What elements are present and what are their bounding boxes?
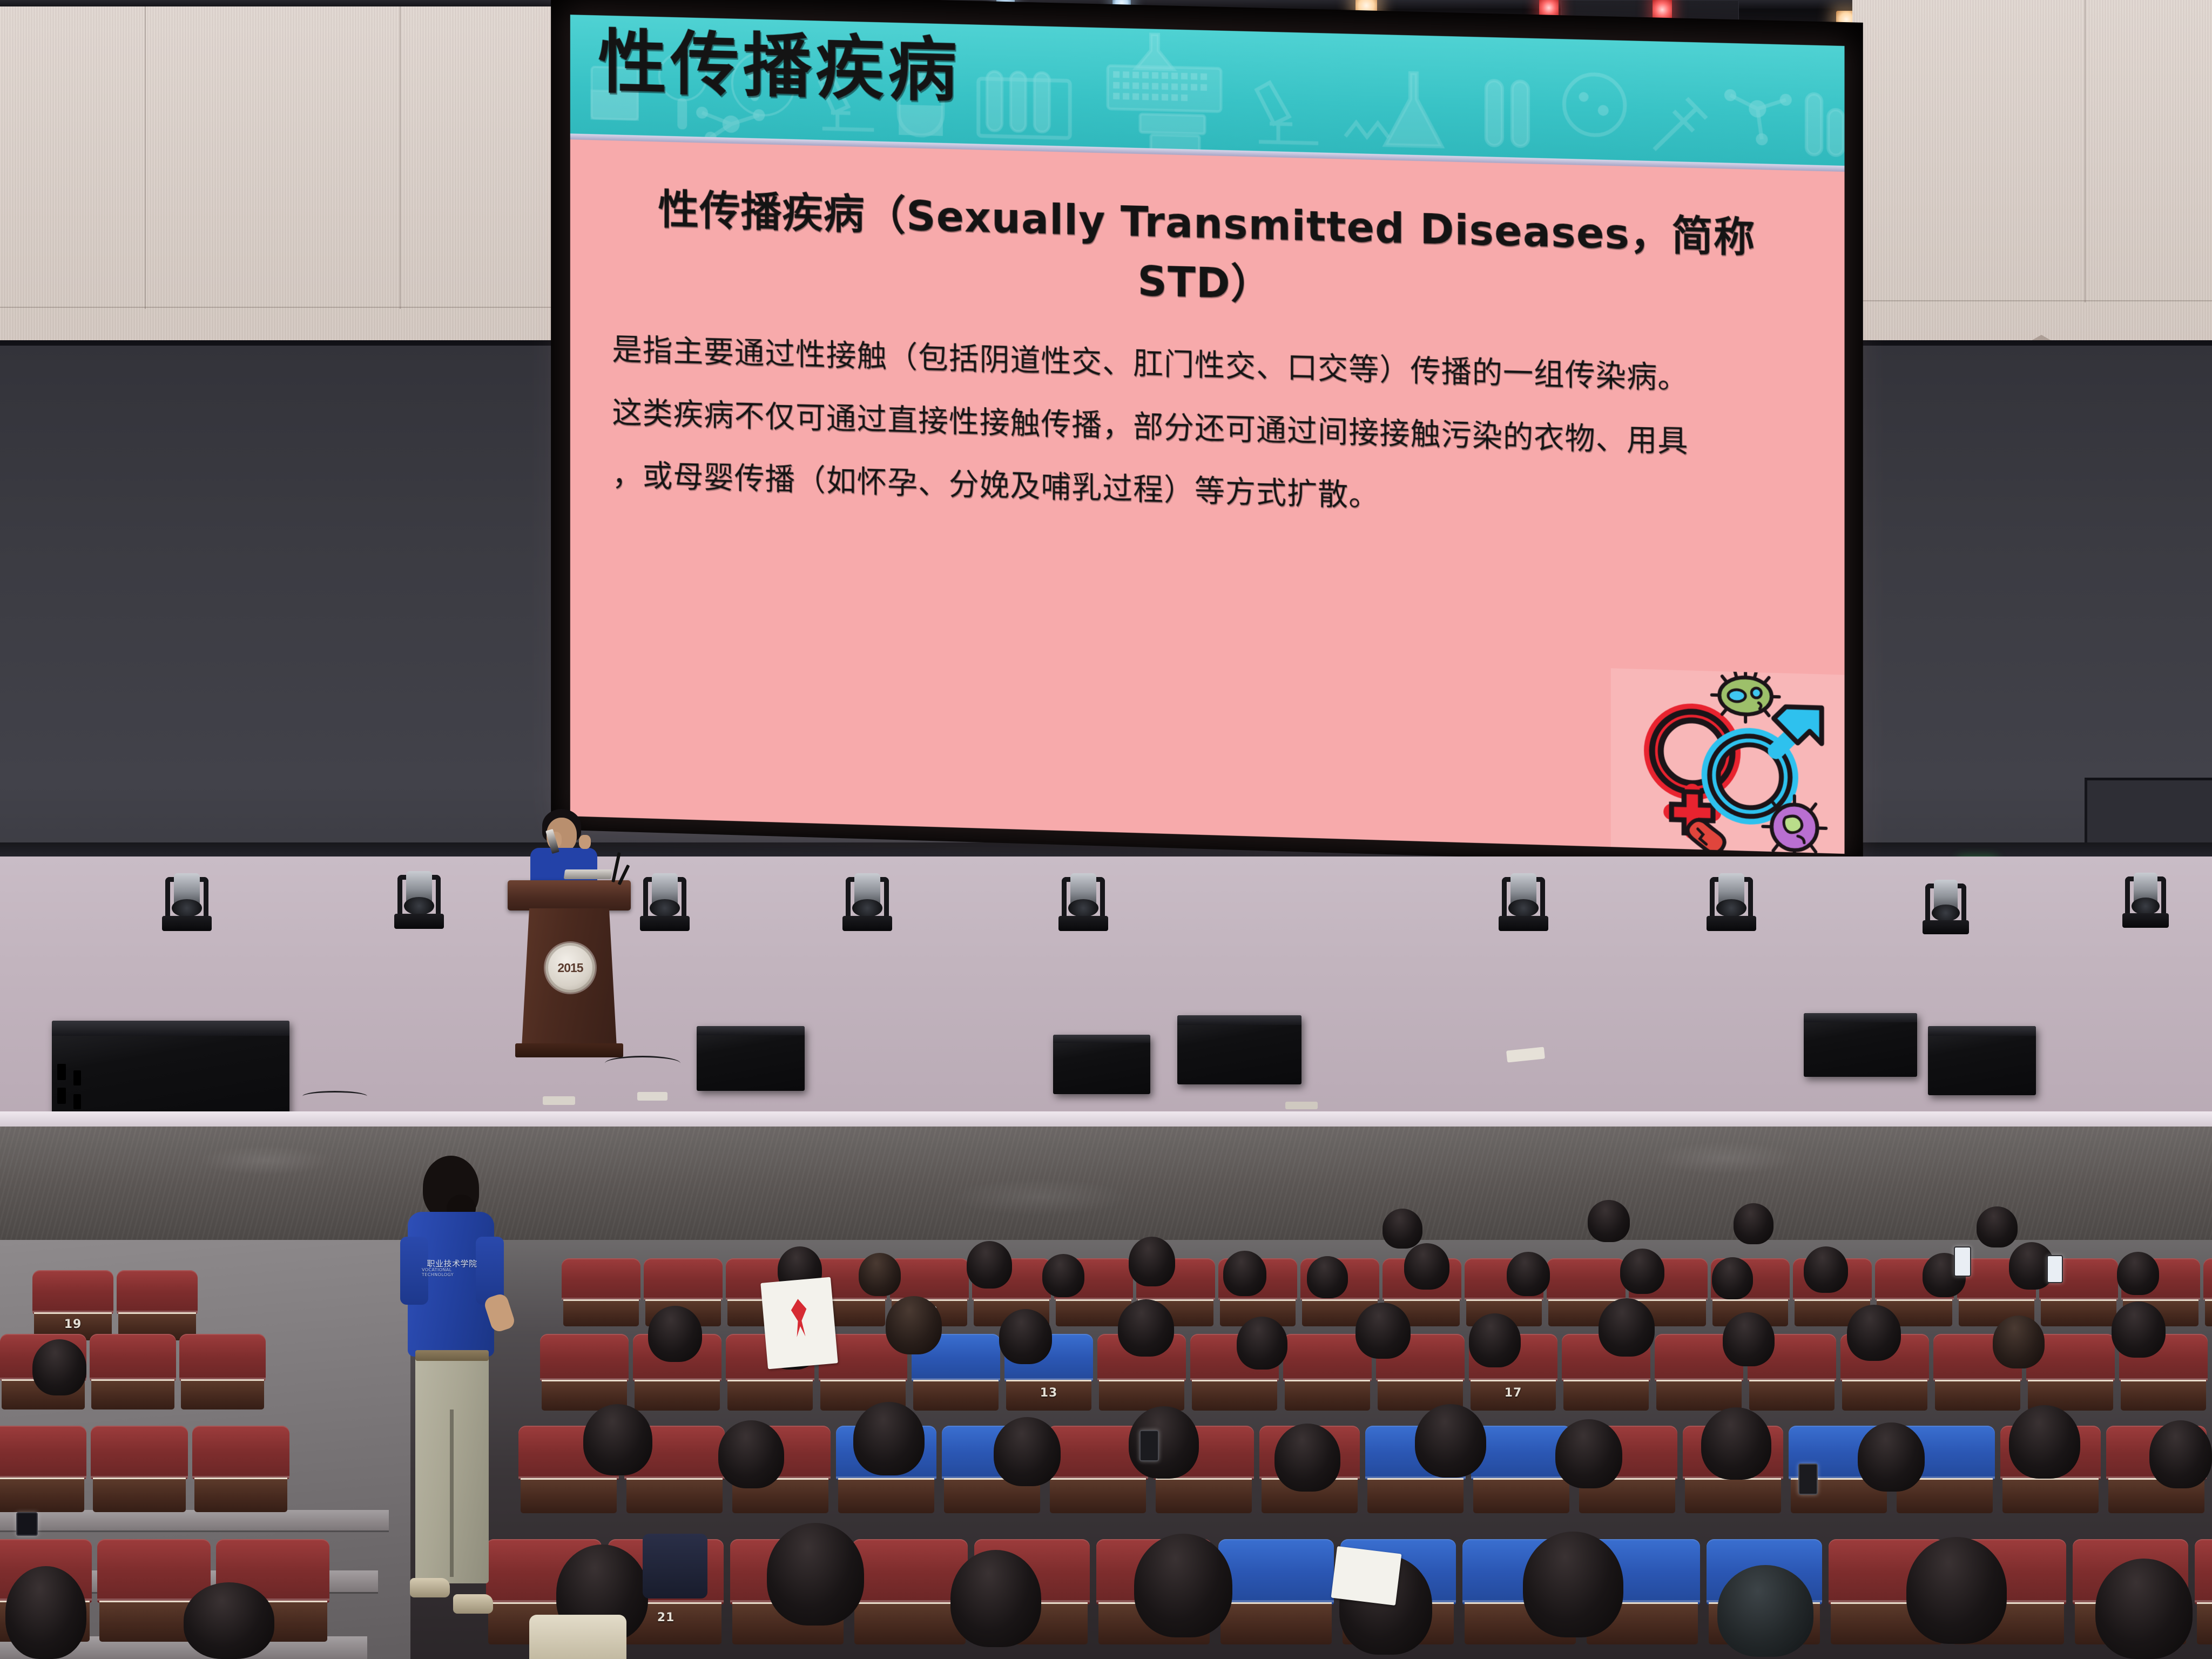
pamphlet <box>1331 1546 1402 1606</box>
walker-shoe <box>453 1594 493 1614</box>
audience-head <box>999 1309 1052 1364</box>
floor-cable <box>302 1091 367 1102</box>
walker-leg-seam <box>450 1410 454 1577</box>
audience-head <box>859 1253 901 1296</box>
audience-head-with-cap <box>1717 1565 1813 1657</box>
seat-row-far-left: 19 <box>32 1270 198 1340</box>
seat-number: 13 <box>1004 1386 1093 1400</box>
seat[interactable] <box>117 1270 198 1340</box>
laptop <box>564 869 613 879</box>
podium: 2015 <box>512 880 626 1058</box>
aisle-step <box>0 1510 389 1530</box>
audience-head <box>1858 1422 1925 1492</box>
moving-head-light <box>1058 862 1108 931</box>
seat[interactable] <box>562 1258 640 1326</box>
projection-screen: 性传播疾病 性传播疾病（Sexually Transmitted Disease… <box>548 6 1860 849</box>
walker-shoe <box>410 1578 450 1597</box>
audience-head <box>1993 1316 2045 1368</box>
moving-head-light <box>394 860 444 929</box>
auditorium-scene: ↱ <box>0 0 2212 1659</box>
audience-member-torso <box>643 1534 707 1599</box>
stage-facade <box>0 1127 2212 1240</box>
audience-head <box>1734 1203 1773 1244</box>
audience-head <box>1588 1200 1630 1242</box>
audience-head <box>184 1582 274 1659</box>
stage-monitor-speaker <box>1804 1013 1917 1077</box>
moving-head-light <box>1923 869 1969 934</box>
moving-head-light <box>1499 862 1548 931</box>
audience-head <box>1382 1209 1422 1249</box>
tape-marker <box>1285 1102 1318 1109</box>
audience-head <box>1701 1407 1771 1480</box>
seat[interactable] <box>1218 1539 1334 1644</box>
audience-head <box>1355 1303 1411 1359</box>
floor-cable <box>605 1056 680 1071</box>
gender-symbols-with-germs-illustration <box>1611 668 1845 854</box>
moving-head-light <box>842 862 892 931</box>
seat-number: 19 <box>32 1318 113 1331</box>
slide-body: 性传播疾病（Sexually Transmitted Diseases，简称ST… <box>570 139 1845 534</box>
seat[interactable]: 19 <box>32 1270 113 1340</box>
audience-head <box>1042 1254 1084 1297</box>
stage-monitor-speaker <box>1053 1035 1150 1094</box>
audience-head <box>2095 1559 2193 1659</box>
audience-head <box>2009 1405 2080 1479</box>
mobile-phone <box>16 1512 38 1536</box>
seat[interactable] <box>2203 1258 2212 1326</box>
tape-marker <box>637 1092 667 1101</box>
walker-shirt-print: 职业技术学院 VOCATIONAL TECHNOLOGY <box>422 1259 482 1278</box>
audience-head <box>648 1306 702 1362</box>
audience-head <box>967 1241 1012 1289</box>
mobile-phone <box>1798 1464 1818 1495</box>
walker-shirt-text-sub: VOCATIONAL TECHNOLOGY <box>422 1268 482 1277</box>
seat[interactable] <box>91 1426 188 1512</box>
audience-head <box>1523 1532 1623 1637</box>
aisle-walker: 职业技术学院 VOCATIONAL TECHNOLOGY <box>397 1156 505 1631</box>
audience-head <box>1223 1251 1266 1296</box>
mobile-phone <box>1954 1246 1971 1277</box>
podium-top <box>508 880 631 911</box>
audience-head <box>1847 1305 1901 1361</box>
slide-heading: 性传播疾病（Sexually Transmitted Diseases，简称ST… <box>612 175 1802 325</box>
seat-row <box>0 1426 289 1512</box>
audience-head <box>1906 1537 2007 1644</box>
mobile-phone <box>2047 1255 2063 1283</box>
audience-head <box>718 1420 784 1488</box>
audience-head <box>5 1566 86 1659</box>
audience-head <box>1723 1312 1775 1366</box>
podium-emblem: 2015 <box>545 943 595 993</box>
audience-head <box>1620 1249 1664 1294</box>
stage-monitor-speaker <box>1177 1015 1301 1084</box>
audience-head <box>1237 1317 1287 1370</box>
moving-head-light <box>2122 862 2169 928</box>
audience-head <box>1804 1246 1848 1293</box>
audience-head <box>1274 1424 1340 1492</box>
audience-head <box>886 1296 942 1354</box>
seat[interactable] <box>540 1334 629 1411</box>
audience-head <box>2117 1252 2159 1295</box>
seat[interactable] <box>2195 1539 2212 1644</box>
moving-head-light <box>162 862 212 931</box>
audience-head <box>1555 1419 1622 1488</box>
audience-head <box>853 1402 925 1475</box>
audience-head <box>583 1404 652 1475</box>
audience-head <box>1118 1299 1174 1357</box>
aids-ribbon-icon <box>790 1298 809 1338</box>
audience-head <box>1404 1243 1449 1290</box>
pamphlet-with-aids-ribbon <box>760 1277 838 1370</box>
audience-head <box>994 1417 1061 1486</box>
tape-marker <box>543 1096 575 1105</box>
podium-emblem-year: 2015 <box>557 961 583 975</box>
stage-monitor-speaker <box>1928 1026 2036 1095</box>
slide-title: 性传播疾病 <box>598 28 960 106</box>
audience-head <box>1712 1257 1753 1299</box>
audience-head <box>32 1339 86 1395</box>
audience-head <box>1469 1313 1521 1367</box>
audience-head <box>1307 1256 1348 1298</box>
audience-head <box>1977 1206 2018 1247</box>
podium-base <box>515 1043 623 1057</box>
presentation-slide: 性传播疾病 性传播疾病（Sexually Transmitted Disease… <box>570 15 1845 854</box>
seat[interactable] <box>0 1426 86 1512</box>
seat[interactable] <box>90 1334 176 1410</box>
seat[interactable] <box>192 1426 289 1512</box>
audience-head <box>950 1550 1041 1647</box>
stage-monitor-speaker <box>697 1026 805 1091</box>
audience-head <box>1134 1534 1232 1637</box>
seat-number: 17 <box>1469 1386 1557 1400</box>
walker-belt <box>415 1350 489 1361</box>
mobile-phone <box>1139 1430 1159 1461</box>
audience-head <box>767 1523 864 1626</box>
audience-head <box>1415 1404 1486 1478</box>
audience-member-torso <box>529 1615 626 1659</box>
audience-head <box>2112 1301 2166 1358</box>
audience-head <box>1507 1252 1550 1296</box>
moving-head-light <box>640 862 690 931</box>
seat[interactable] <box>179 1334 266 1410</box>
moving-head-light <box>1707 862 1756 931</box>
audience-head <box>2149 1420 2212 1488</box>
audience-head <box>1599 1298 1655 1357</box>
audience-head <box>1129 1237 1175 1286</box>
